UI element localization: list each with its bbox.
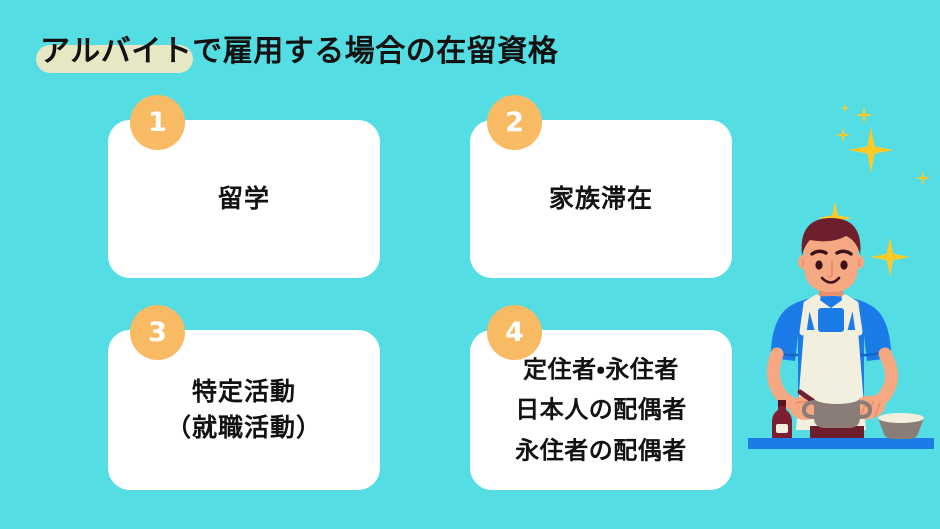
sparkle-icon — [848, 127, 894, 173]
slide-canvas: アルバイトで雇用する場合の在留資格 留学 1 家族滞在 2 特定活動 （就職活動… — [0, 0, 940, 529]
card-3-line-2: （就職活動） — [108, 410, 380, 446]
card-3-number-badge: 3 — [130, 305, 185, 360]
cooking-chef-illustration — [742, 212, 940, 460]
sparkle-icon — [915, 170, 931, 186]
card-1-line-1: 留学 — [108, 181, 380, 217]
card-4-line-3: 永住者の配偶者 — [470, 430, 732, 470]
card-3-line-1: 特定活動 — [108, 374, 380, 410]
sparkle-icon — [835, 127, 851, 143]
card-2-line-1: 家族滞在 — [470, 181, 732, 217]
sparkle-icon — [855, 106, 873, 124]
card-2-text: 家族滞在 — [470, 181, 732, 217]
page-title-block: アルバイトで雇用する場合の在留資格 — [40, 28, 558, 76]
card-2-number-badge: 2 — [487, 95, 542, 150]
page-title: アルバイトで雇用する場合の在留資格 — [40, 28, 558, 76]
card-3-text: 特定活動 （就職活動） — [108, 374, 380, 447]
card-1-text: 留学 — [108, 181, 380, 217]
card-4-text: 定住者・永住者 日本人の配偶者 永住者の配偶者 — [470, 350, 732, 471]
sparkle-icon — [840, 103, 850, 113]
card-4-number-badge: 4 — [487, 305, 542, 360]
card-1-number-badge: 1 — [130, 95, 185, 150]
card-4-line-2: 日本人の配偶者 — [470, 390, 732, 430]
